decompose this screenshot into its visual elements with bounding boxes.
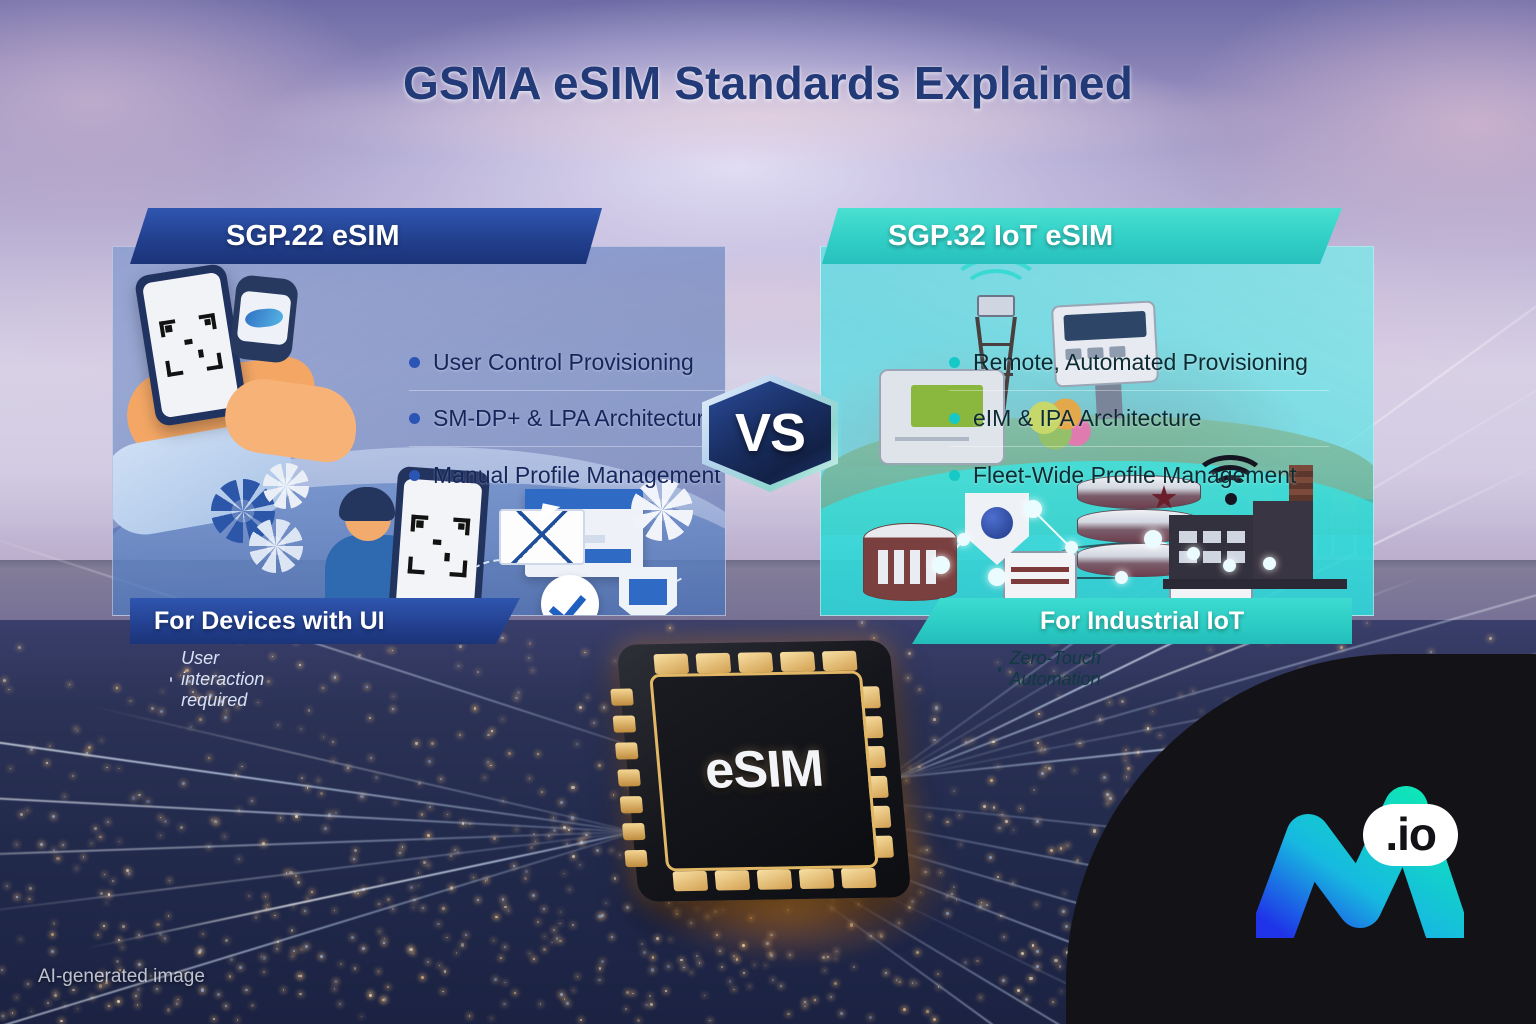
shield-icon <box>619 567 677 615</box>
smartwatch-icon <box>229 274 299 364</box>
edge-device-icon <box>1169 547 1253 605</box>
window-line <box>535 521 579 529</box>
panel-footer-left: For Devices with UI <box>130 598 520 644</box>
list-item-label: SM-DP+ & LPA Architecture <box>433 404 717 433</box>
globe-icon <box>981 507 1013 539</box>
tower-antenna <box>977 295 1015 317</box>
factory-base <box>1163 579 1347 589</box>
page-title: GSMA eSIM Standards Explained <box>0 56 1536 110</box>
signal-wave-icon <box>961 269 1031 319</box>
pointing-hand-illustration <box>220 374 361 466</box>
esim-chip-graphic: eSIM <box>600 628 948 928</box>
drum-vent <box>926 550 936 584</box>
panel-subnote-right: Zero-Touch Automation <box>998 648 1103 690</box>
list-item-label: Remote, Automated Provisioning <box>973 348 1308 377</box>
subnote-label: Zero-Touch Automation <box>1010 648 1104 690</box>
factory-window <box>1227 531 1245 543</box>
envelope-icon <box>499 509 585 565</box>
panel-header-right: SGP.32 IoT eSIM <box>822 208 1342 264</box>
gear-icon <box>211 479 275 543</box>
panel-body-left: User Control Provisioning SM-DP+ & LPA A… <box>112 246 726 616</box>
checkmark-icon <box>541 575 599 615</box>
subnote-label: User interaction required <box>181 648 267 711</box>
factory-window <box>1179 531 1197 543</box>
panel-body-right: Remote, Automated Provisioning eIM & IPA… <box>820 246 1374 616</box>
person-hair <box>339 487 395 521</box>
bullet-dot-icon <box>949 357 960 368</box>
device-stripe <box>1011 579 1069 584</box>
bullet-dot-icon <box>170 677 172 682</box>
phone-screen <box>142 272 240 419</box>
window-button <box>585 549 631 563</box>
chip-label: eSIM <box>625 738 903 803</box>
ai-generated-watermark: AI-generated image <box>38 966 205 988</box>
qr-code-icon <box>159 313 223 377</box>
smartphone-icon <box>134 263 249 428</box>
dashed-connector <box>469 559 539 595</box>
qr-code-icon <box>408 515 471 578</box>
drum-vent <box>894 550 904 584</box>
bullet-dot-icon <box>949 470 960 481</box>
factory-building <box>1253 501 1313 585</box>
person-head <box>345 495 391 541</box>
database-disc <box>1077 509 1201 543</box>
esim-chip: eSIM <box>616 640 911 902</box>
bullet-dot-icon <box>409 470 420 481</box>
cursor-pointer-icon <box>540 503 561 522</box>
factory-window <box>1179 551 1197 563</box>
list-item: eIM & IPA Architecture <box>949 391 1329 447</box>
device-stripe <box>1177 565 1245 570</box>
vs-label: VS <box>702 374 838 492</box>
server-drum-icon <box>863 523 957 601</box>
panel-subnote-left: User interaction required <box>170 648 267 711</box>
bullet-list-right: Remote, Automated Provisioning eIM & IPA… <box>949 335 1329 503</box>
drum-vent <box>910 550 920 584</box>
window-line <box>535 535 605 543</box>
device-stripe <box>1177 579 1245 584</box>
watch-swirl-icon <box>244 307 284 329</box>
signal-wave-icon <box>949 257 1043 321</box>
factory-window <box>1203 531 1221 543</box>
panel-header-left: SGP.22 eSIM <box>130 208 602 264</box>
database-disc <box>1077 543 1201 577</box>
gear-icon <box>263 463 309 509</box>
list-item-label: Fleet-Wide Profile Management <box>973 461 1296 490</box>
shield-globe-icon <box>965 493 1029 565</box>
gear-icon <box>249 519 303 573</box>
hand-illustration <box>122 354 322 468</box>
device-stripe <box>1011 567 1069 572</box>
list-item: Remote, Automated Provisioning <box>949 335 1329 391</box>
list-item-label: Manual Profile Management <box>433 461 721 490</box>
factory-window <box>1227 551 1245 563</box>
factory-window <box>1203 551 1221 563</box>
sleeve-illustration <box>113 417 300 541</box>
bullet-dot-icon <box>949 413 960 424</box>
list-item-label: User Control Provisioning <box>433 348 694 377</box>
list-item: Fleet-Wide Profile Management <box>949 447 1329 503</box>
bullet-dot-icon <box>409 357 420 368</box>
vs-badge: VS <box>702 374 838 492</box>
list-item-label: eIM & IPA Architecture <box>973 404 1201 433</box>
drum-vent <box>878 550 888 584</box>
bullet-dot-icon <box>409 413 420 424</box>
shield-inner <box>629 579 667 605</box>
brand-logo-io-badge[interactable]: .io <box>1363 804 1458 866</box>
watch-face <box>237 291 292 346</box>
dashed-connector <box>631 545 691 585</box>
factory-building <box>1169 515 1253 585</box>
